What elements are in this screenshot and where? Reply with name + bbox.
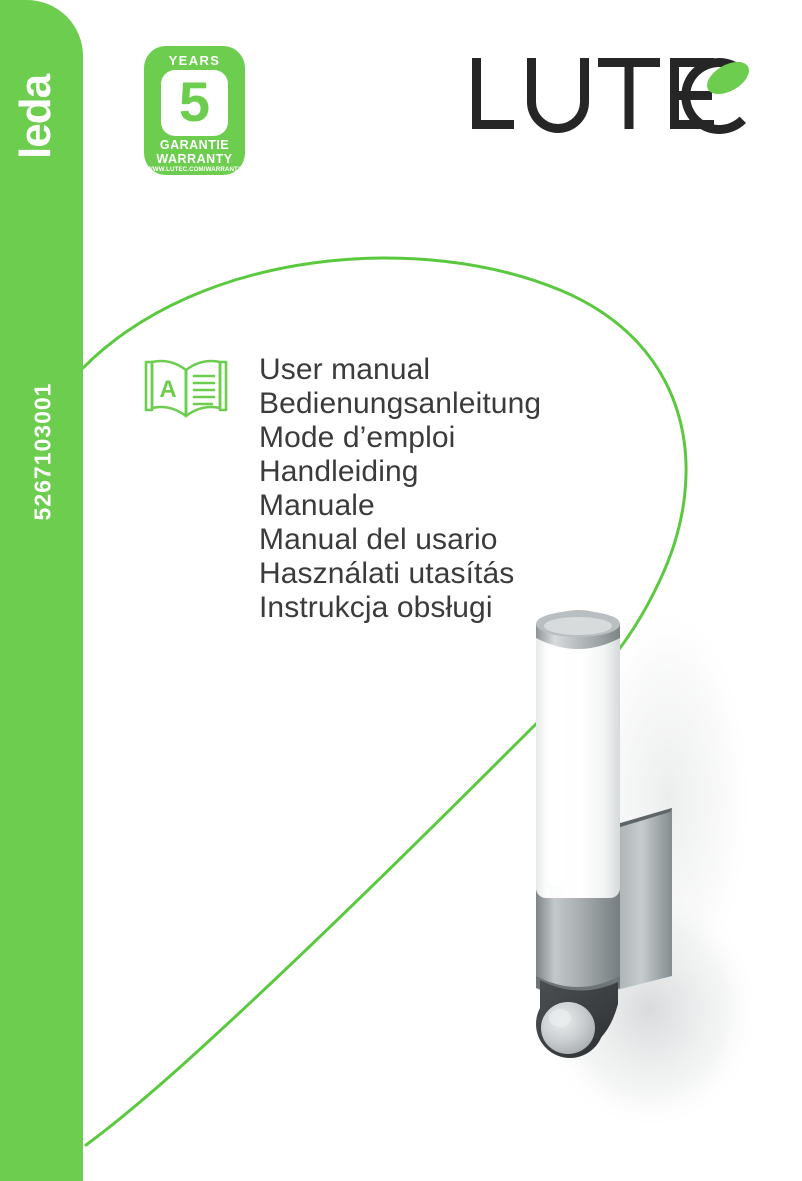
manual-title-it: Manuale (259, 489, 541, 523)
manual-title-en: User manual (259, 353, 541, 387)
product-image-wall-lamp (500, 580, 802, 1140)
top-metal-cap (536, 610, 620, 649)
left-green-sidebar: leda 5267103001 (0, 0, 83, 1181)
manual-title-hu: Használati utasítás (259, 557, 541, 591)
open-book-icon: A (138, 352, 234, 418)
article-number-label: 5267103001 (32, 347, 55, 557)
white-diffuser-tube (536, 616, 620, 898)
series-brand-label: leda (14, 0, 58, 159)
warranty-years-label: YEARS (144, 54, 245, 67)
manual-title-es: Manual del usario (259, 523, 541, 557)
warranty-badge: YEARS 5 GARANTIE WARRANTY WWW.LUTEC.COM/… (144, 46, 245, 175)
manual-title-nl: Handleiding (259, 455, 541, 489)
lutec-logo (470, 52, 750, 136)
lutec-wordmark (472, 58, 746, 134)
manual-cover-page: leda 5267103001 YEARS 5 GARANTIE WARRANT… (0, 0, 802, 1181)
manual-title-pl: Instrukcja obsługi (259, 591, 541, 625)
manual-title-fr: Mode d’emploi (259, 421, 541, 455)
book-page-letter: A (159, 376, 176, 403)
manual-title-list: User manual Bedienungsanleitung Mode d’e… (259, 353, 541, 625)
warranty-garantie-label: GARANTIE (144, 139, 245, 152)
warranty-number-box: 5 (161, 70, 228, 136)
warranty-number: 5 (161, 69, 228, 135)
warranty-url-label: WWW.LUTEC.COM/WARRANTY (144, 167, 245, 173)
manual-title-de: Bedienungsanleitung (259, 387, 541, 421)
warranty-warranty-label: WARRANTY (144, 153, 245, 166)
